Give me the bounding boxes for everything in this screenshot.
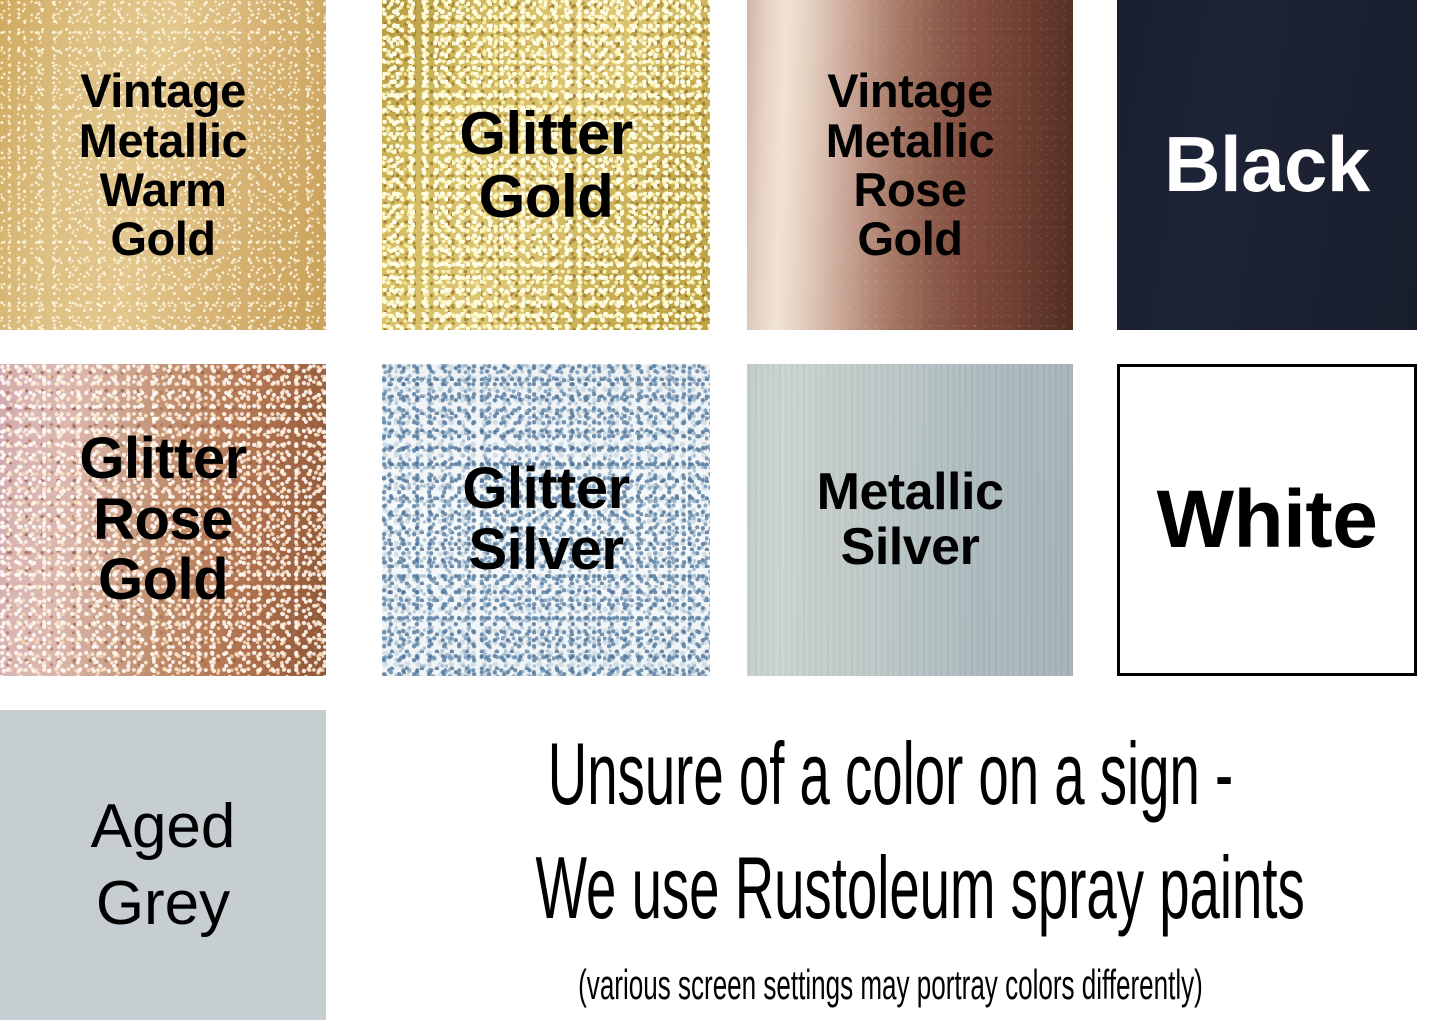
swatch-label-vintage-metallic-warm-gold: Vintage Metallic Warm Gold: [79, 66, 247, 263]
info-message-line-1: Unsure of a color on a sign -: [547, 730, 1235, 818]
info-message-line-2: We use Rustoleum spray paints: [536, 844, 1246, 932]
swatch-glitter-silver[interactable]: Glitter Silver: [382, 364, 710, 676]
swatch-label-glitter-gold: Glitter Gold: [459, 102, 632, 228]
color-swatch-chart: Vintage Metallic Warm Gold Glitter Gold …: [0, 0, 1445, 1030]
swatch-glitter-gold[interactable]: Glitter Gold: [382, 0, 710, 330]
swatch-vintage-metallic-warm-gold[interactable]: Vintage Metallic Warm Gold: [0, 0, 326, 330]
info-message-disclaimer: (various screen settings may portray col…: [547, 964, 1235, 1006]
swatch-label-glitter-rose-gold: Glitter Rose Gold: [79, 429, 246, 612]
swatch-white[interactable]: White: [1117, 364, 1417, 676]
swatch-metallic-silver[interactable]: Metallic Silver: [747, 364, 1073, 676]
swatch-label-vintage-metallic-rose-gold: Vintage Metallic Rose Gold: [826, 66, 994, 263]
swatch-label-aged-grey: Aged Grey: [91, 788, 236, 943]
swatch-label-white: White: [1157, 477, 1378, 563]
swatch-black[interactable]: Black: [1117, 0, 1417, 330]
swatch-glitter-rose-gold[interactable]: Glitter Rose Gold: [0, 364, 326, 676]
swatch-label-glitter-silver: Glitter Silver: [462, 459, 629, 581]
swatch-label-black: Black: [1164, 124, 1370, 206]
info-message-block: Unsure of a color on a sign - We use Rus…: [336, 716, 1445, 1026]
swatch-label-metallic-silver: Metallic Silver: [817, 465, 1004, 574]
swatch-vintage-metallic-rose-gold[interactable]: Vintage Metallic Rose Gold: [747, 0, 1073, 330]
swatch-aged-grey[interactable]: Aged Grey: [0, 710, 326, 1020]
